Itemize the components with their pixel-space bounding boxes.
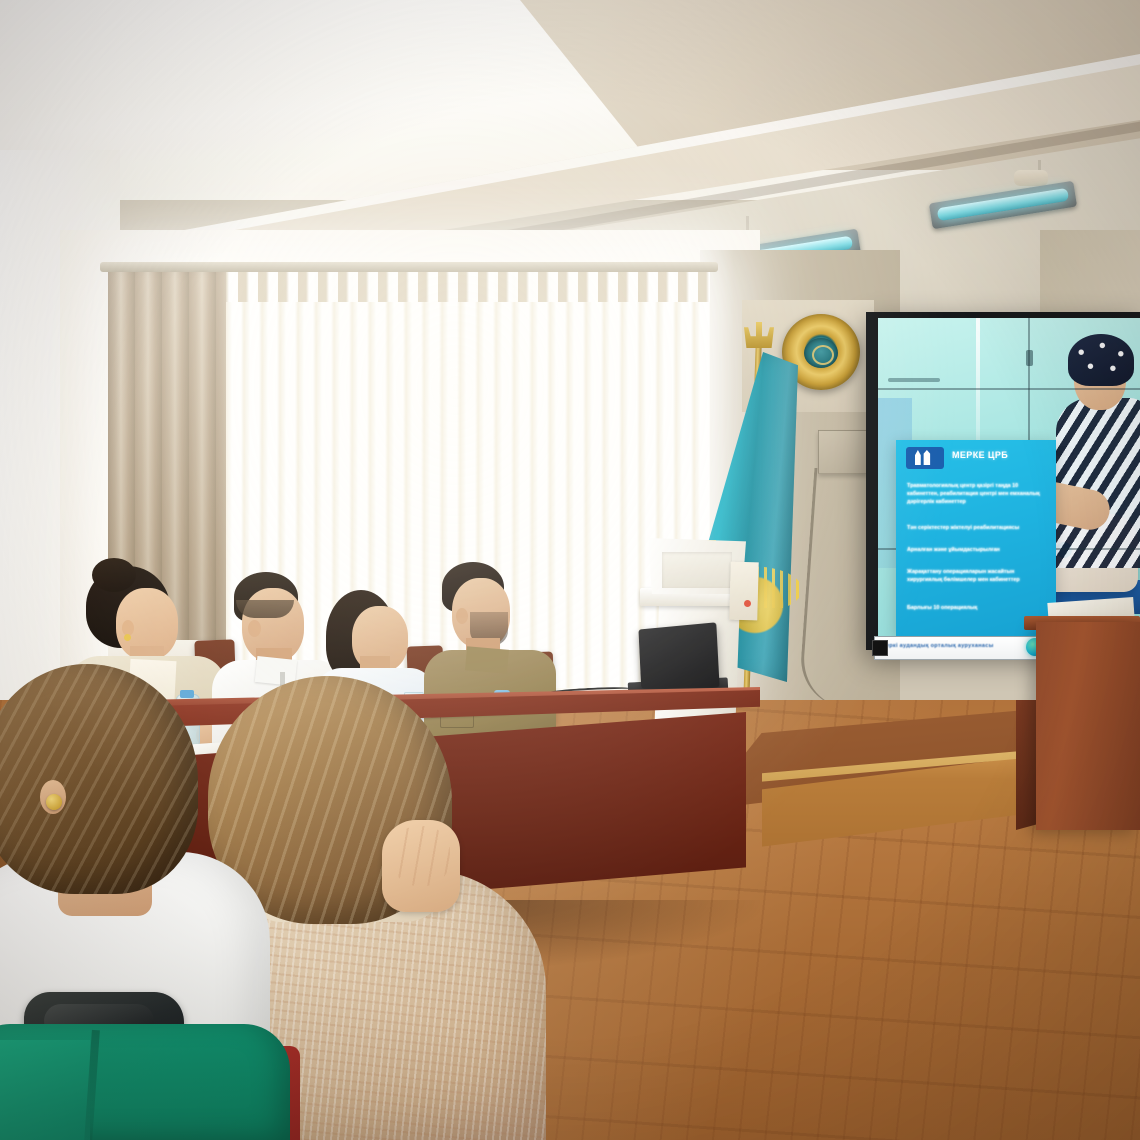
ceiling-light-right-cap <box>1014 170 1048 186</box>
laptop-screen[interactable] <box>638 622 719 688</box>
bottle-cap <box>180 690 194 698</box>
lectern-notes <box>729 562 759 621</box>
slide-body-block: Тән серіктестер жіктелуі реабилитациясы <box>907 524 1045 532</box>
slide-body-block: Жарақаттану операцияларын жасайтын хирур… <box>907 568 1045 584</box>
attendee-4-ear <box>456 608 468 624</box>
shanyrak-icon <box>812 345 834 365</box>
nurse-torso <box>1056 398 1140 568</box>
video-shelf-rail <box>888 378 940 382</box>
slide-body-block: Травматологиялық центр қазіргі таңда 10 … <box>907 482 1045 506</box>
nurse-headscarf <box>1068 334 1134 386</box>
curtain-rod <box>100 262 718 272</box>
attendee-1-earring-icon <box>124 634 131 641</box>
slide-body-block: Барлығы 10 операциялық <box>907 604 1045 612</box>
attendee-1-hair-bun <box>92 558 136 592</box>
attendee-2-hair-fade <box>236 600 294 618</box>
lectern-note-marker-icon <box>744 600 751 607</box>
slide-title: МЕРКЕ ЦРБ <box>952 450 1008 460</box>
attendee-4-collar <box>465 646 509 674</box>
lectern-front-panel <box>662 552 732 588</box>
attendee-2-ear <box>248 620 261 637</box>
green-chair-wing <box>0 1040 90 1140</box>
screen-corner-badge <box>872 640 888 656</box>
foreground-2-fingers <box>392 826 450 886</box>
video-wall-display[interactable]: МЕРКЕ ЦРБ Травматологиялық центр қазіргі… <box>878 318 1140 644</box>
sheer-curtain-header <box>178 268 710 302</box>
presentation-slide[interactable]: МЕРКЕ ЦРБ Травматологиялық центр қазіргі… <box>896 440 1056 636</box>
video-wall-bezel-horizontal-top <box>878 388 1140 390</box>
wooden-tribune <box>1036 622 1140 830</box>
ticker-text: Меркі аудандық орталық ауруханасы <box>881 643 994 649</box>
slide-body-block: Арналған және ұйымдастырылған <box>907 546 1045 554</box>
conference-room-photo: МЕРКЕ ЦРБ Травматологиялық центр қазіргі… <box>0 0 1140 1140</box>
foreground-1-earring-icon <box>46 794 62 810</box>
